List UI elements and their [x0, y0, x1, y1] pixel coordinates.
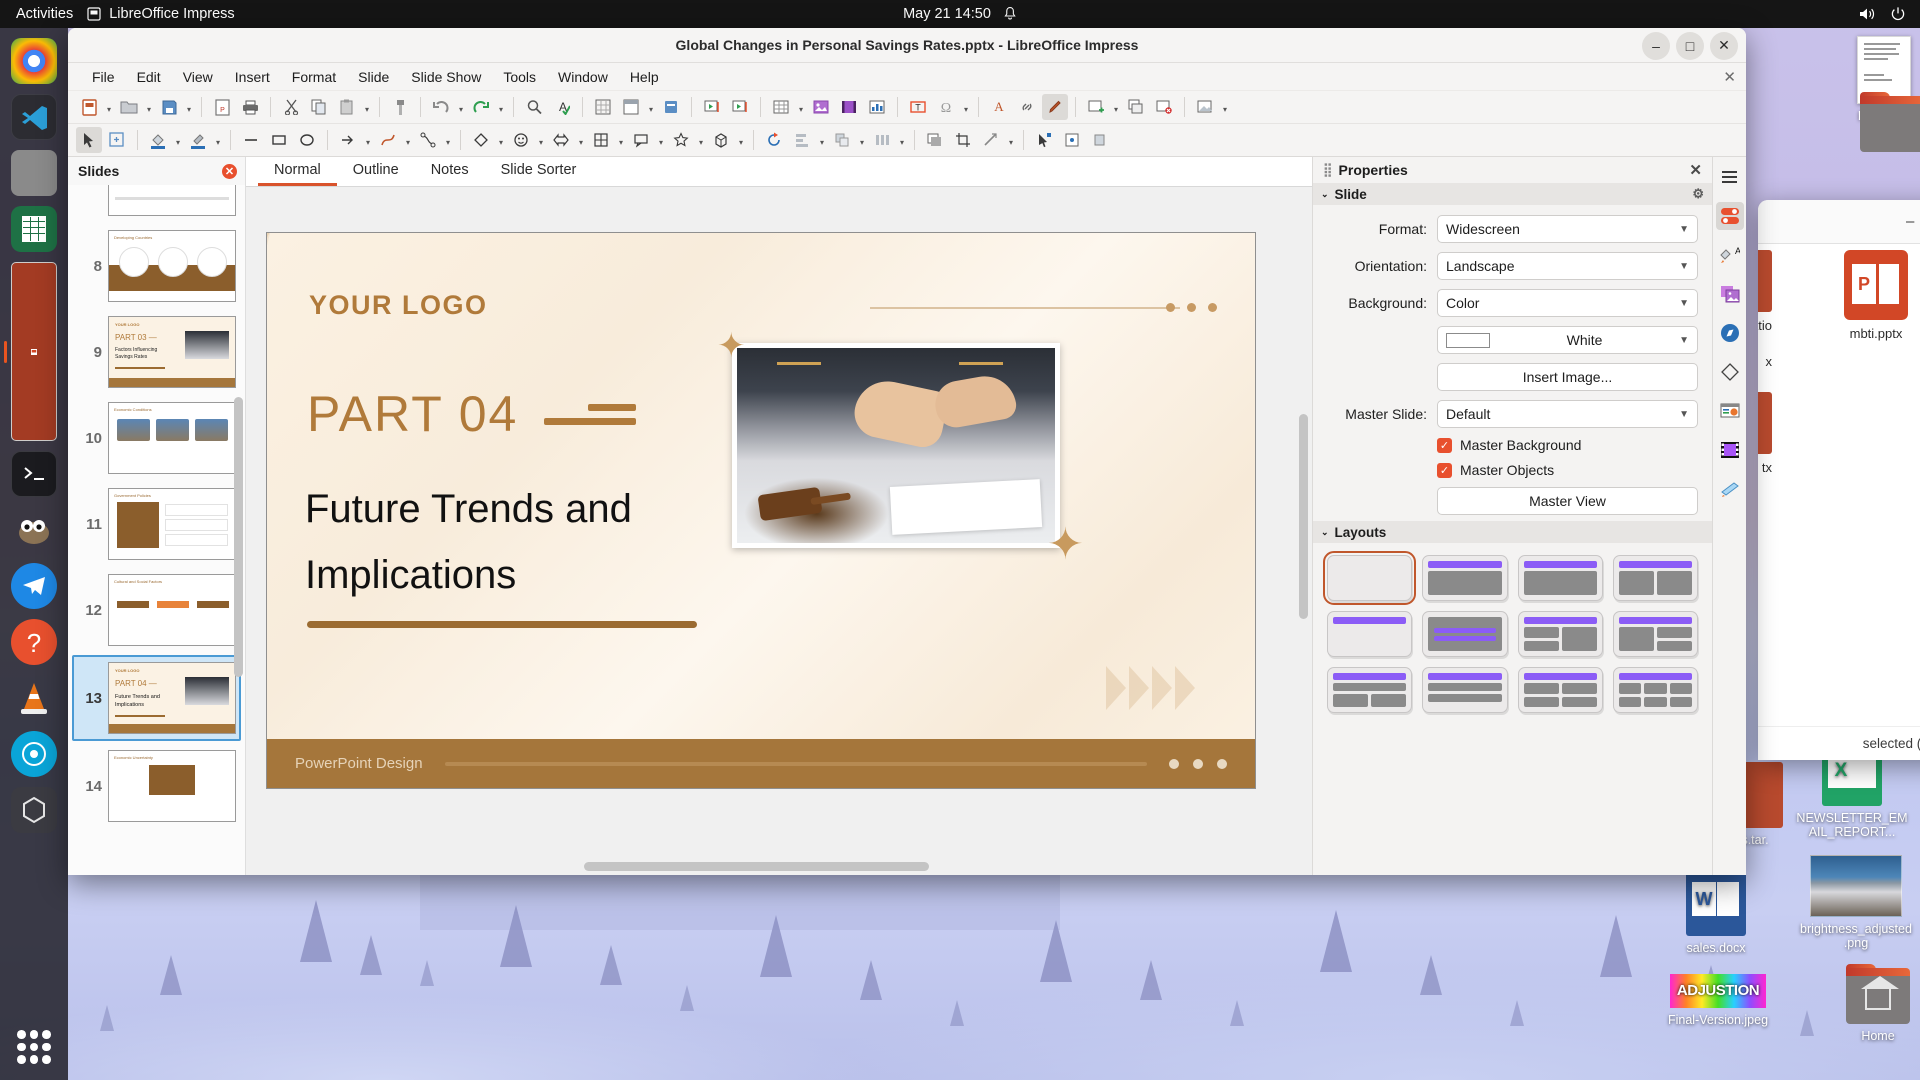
- file-item-partial-1[interactable]: atio: [1758, 250, 1772, 333]
- slide-thumbnail-item[interactable]: 14 Economic Uncertainty: [72, 743, 245, 829]
- insert-image-button[interactable]: Insert Image...: [1437, 363, 1698, 391]
- slide-thumbnail: Cultural and Social Factors: [108, 574, 236, 646]
- dock-item-telegram[interactable]: [11, 563, 57, 609]
- menu-format[interactable]: Format: [281, 66, 347, 88]
- fill-color-dropdown-icon[interactable]: ▾: [173, 127, 183, 153]
- tree: [1230, 1000, 1244, 1026]
- tree: [1420, 955, 1442, 995]
- properties-icon[interactable]: [1716, 202, 1744, 230]
- sidebar-rail[interactable]: A: [1712, 157, 1746, 875]
- gnome-top-bar: Activities LibreOffice Impress May 21 14…: [0, 0, 1920, 28]
- basic-shapes-dropdown-icon[interactable]: ▾: [496, 127, 506, 153]
- menu-window[interactable]: Window: [547, 66, 619, 88]
- layouts-section-header[interactable]: ⌄ Layouts: [1313, 521, 1712, 543]
- insert-arrow-icon[interactable]: [335, 127, 361, 153]
- volume-icon[interactable]: [1858, 6, 1876, 22]
- tree: [1140, 960, 1162, 1000]
- special-character-dropdown-icon[interactable]: ▾: [961, 94, 971, 120]
- chevron-down-icon: ▼: [1679, 298, 1689, 309]
- align-objects-icon[interactable]: [789, 127, 815, 153]
- dock-item-calc[interactable]: [11, 206, 57, 252]
- pptx-file-icon: [1758, 392, 1772, 454]
- desktop-icon-sales-docx[interactable]: W sales.docx: [1660, 870, 1772, 955]
- paste-icon[interactable]: [334, 94, 360, 120]
- master-objects-row[interactable]: ✓ Master Objects: [1319, 462, 1698, 478]
- slides-panel[interactable]: Slides ✕ 8 Developing Countries: [68, 157, 246, 875]
- tree: [1040, 920, 1072, 982]
- show-draw-functions-icon[interactable]: [1042, 94, 1068, 120]
- connectors-icon[interactable]: [415, 127, 441, 153]
- slide-number: 8: [76, 258, 102, 275]
- insert-media-icon[interactable]: [836, 94, 862, 120]
- line-color-dropdown-icon[interactable]: ▾: [213, 127, 223, 153]
- tree: [1600, 915, 1632, 977]
- layout-title-three-rows[interactable]: [1422, 667, 1507, 713]
- master-slides-icon[interactable]: [1716, 397, 1744, 425]
- scrollbar-thumb[interactable]: [1299, 414, 1308, 619]
- insert-table-icon[interactable]: [768, 94, 794, 120]
- fill-color-icon[interactable]: [145, 127, 171, 153]
- sidebar-settings-icon[interactable]: [1716, 163, 1744, 191]
- slide-section-title: Slide: [1335, 187, 1367, 202]
- layout-title-only[interactable]: [1327, 611, 1412, 657]
- selection-status-text: selected (12.3 MB): [1863, 736, 1920, 751]
- shapes-icon[interactable]: [1716, 358, 1744, 386]
- part-dash-decoration: [544, 404, 636, 425]
- insert-text-box-icon[interactable]: T: [905, 94, 931, 120]
- select-tool-icon[interactable]: [76, 127, 102, 153]
- bell-icon[interactable]: [1003, 6, 1017, 22]
- delete-slide-icon[interactable]: [1151, 94, 1177, 120]
- software-icon: [21, 796, 47, 824]
- system-tray[interactable]: [1858, 6, 1906, 22]
- chevron-down-icon: ▼: [1679, 224, 1689, 235]
- pptx-file-icon: [1758, 250, 1772, 312]
- master-slide-icon[interactable]: [658, 94, 684, 120]
- start-from-current-slide-icon[interactable]: [727, 94, 753, 120]
- traffic-cone-icon: [17, 680, 51, 716]
- slide-footer-text: PowerPoint Design: [295, 755, 423, 772]
- animation-icon[interactable]: [1716, 436, 1744, 464]
- file-item-partial-2[interactable]: x: [1758, 354, 1772, 369]
- slide-number: 12: [76, 602, 102, 619]
- editor-area: Normal Outline Notes Slide Sorter YOUR L…: [246, 157, 1312, 875]
- slide-thumbnail: YOUR LOGO PART 04 — Future Trends andImp…: [108, 662, 236, 734]
- menu-help[interactable]: Help: [619, 66, 670, 88]
- dock-item-software[interactable]: [11, 787, 57, 833]
- new-presentation-icon[interactable]: [76, 94, 102, 120]
- scrollbar-thumb[interactable]: [584, 862, 929, 871]
- stars-and-banners-icon[interactable]: [668, 127, 694, 153]
- format-row: Format: Widescreen ▼: [1319, 215, 1698, 243]
- slide-thumbnail: Economic Conditions: [108, 402, 236, 474]
- insert-image-row: Insert Image...: [1319, 363, 1698, 391]
- tree: [1800, 1010, 1814, 1036]
- master-background-row[interactable]: ✓ Master Background: [1319, 437, 1698, 453]
- open-dropdown-icon[interactable]: ▾: [144, 94, 154, 120]
- tree: [950, 1000, 964, 1026]
- menu-file[interactable]: File: [81, 66, 126, 88]
- cut-icon[interactable]: [278, 94, 304, 120]
- thumb-title: Developing Countries: [114, 235, 152, 240]
- display-grid-icon[interactable]: [590, 94, 616, 120]
- canvas-horizontal-scrollbar[interactable]: [254, 862, 1290, 871]
- scrollbar-thumb[interactable]: [234, 397, 243, 677]
- flowchart-shapes-icon[interactable]: [588, 127, 614, 153]
- impress-icon: [31, 340, 37, 364]
- align-dropdown-icon[interactable]: ▾: [817, 127, 827, 153]
- slide-transition-icon[interactable]: [1716, 475, 1744, 503]
- glue-points-icon[interactable]: [1059, 127, 1085, 153]
- find-replace-icon[interactable]: [521, 94, 547, 120]
- slide-photo[interactable]: [732, 343, 1060, 548]
- slide-thumbnail: YOUR LOGO PART 03 — Factors InfluencingS…: [108, 316, 236, 388]
- active-app-name: LibreOffice Impress: [109, 6, 234, 22]
- format-label: Format:: [1319, 221, 1427, 237]
- activities-button[interactable]: Activities: [0, 6, 87, 22]
- desktop-icon-brightness-png[interactable]: brightness_adjusted.png: [1800, 855, 1912, 950]
- redo-dropdown-icon[interactable]: ▾: [496, 94, 506, 120]
- tab-notes[interactable]: Notes: [415, 157, 485, 186]
- decorative-line-top-right: [870, 307, 1180, 309]
- menu-slide-show[interactable]: Slide Show: [400, 66, 492, 88]
- close-document-button[interactable]: ✕: [1723, 68, 1736, 86]
- slides-panel-title: Slides: [78, 163, 119, 179]
- thumb-title: Economic Uncertainty: [114, 755, 153, 760]
- desktop-icon-label: Home: [1822, 1029, 1920, 1043]
- properties-panel[interactable]: ⣿ Properties ✕ ⌄ Slide ⚙ Format: Widescr…: [1312, 157, 1712, 875]
- new-slide-dropdown-icon[interactable]: ▾: [1111, 94, 1121, 120]
- insert-special-character-icon[interactable]: Ω: [933, 94, 959, 120]
- layout-title-content[interactable]: [1422, 555, 1507, 601]
- gear-icon[interactable]: ⚙: [1692, 186, 1704, 202]
- impress-app-icon: [87, 7, 101, 21]
- slide-part-label[interactable]: PART 04: [307, 385, 636, 443]
- layouts-grid[interactable]: [1313, 543, 1712, 725]
- connectors-dropdown-icon[interactable]: ▾: [443, 127, 453, 153]
- shadow-icon[interactable]: [922, 127, 948, 153]
- window-titlebar: Global Changes in Personal Savings Rates…: [68, 28, 1746, 63]
- slide-thumbnail-item[interactable]: 12 Cultural and Social Factors: [72, 567, 245, 653]
- callout-shapes-icon[interactable]: [628, 127, 654, 153]
- impress-window[interactable]: Global Changes in Personal Savings Rates…: [68, 28, 1746, 875]
- layout-title-two-content-stacked[interactable]: [1518, 611, 1603, 657]
- slide-properties-dropdown-icon[interactable]: ▾: [1220, 94, 1230, 120]
- distribute-dropdown-icon[interactable]: ▾: [897, 127, 907, 153]
- svg-text:Ω: Ω: [941, 101, 951, 115]
- folder-icon: [1846, 972, 1910, 1024]
- basic-shapes-icon[interactable]: [468, 127, 494, 153]
- orientation-label: Orientation:: [1319, 258, 1427, 274]
- slide-thumbnail-item-selected[interactable]: 13 YOUR LOGO PART 04 — Future Trends and…: [72, 655, 241, 741]
- insert-rectangle-icon[interactable]: [266, 127, 292, 153]
- clock-text: May 21 14:50: [903, 6, 991, 22]
- filter-icon[interactable]: [978, 127, 1004, 153]
- symbol-shapes-icon[interactable]: [508, 127, 534, 153]
- orientation-select[interactable]: Landscape ▼: [1437, 252, 1698, 280]
- master-objects-label: Master Objects: [1460, 462, 1554, 478]
- dock-item-files[interactable]: [11, 150, 57, 196]
- slide-thumbnail: Government Policies: [108, 488, 236, 560]
- tree: [760, 915, 792, 977]
- slide-section-header[interactable]: ⌄ Slide ⚙: [1313, 183, 1712, 205]
- dock-item-vscode[interactable]: [11, 94, 57, 140]
- standard-toolbar[interactable]: ▾ ▾ ▾ P ▾ ▾ ▾: [68, 91, 1746, 124]
- maximize-button[interactable]: □: [1676, 32, 1704, 60]
- slide-thumbnail: Economic Uncertainty: [108, 750, 236, 822]
- master-slide-select[interactable]: Default ▼: [1437, 400, 1698, 428]
- part-text: PART 04: [307, 385, 518, 443]
- vscode-icon: [20, 103, 50, 133]
- insert-table-dropdown-icon[interactable]: ▾: [796, 94, 806, 120]
- block-arrows-dropdown-icon[interactable]: ▾: [576, 127, 586, 153]
- tab-outline[interactable]: Outline: [337, 157, 415, 186]
- redo-icon[interactable]: [468, 94, 494, 120]
- arrange-icon[interactable]: [829, 127, 855, 153]
- menu-tools[interactable]: Tools: [492, 66, 547, 88]
- save-icon[interactable]: [156, 94, 182, 120]
- layout-title-content-over-two[interactable]: [1327, 667, 1412, 713]
- desktop-icon-home-folder[interactable]: Home: [1822, 972, 1920, 1043]
- desktop-icon-label: Final-Version.jpeg: [1648, 1013, 1788, 1027]
- background-select[interactable]: Color ▼: [1437, 289, 1698, 317]
- chevron-down-icon: ▼: [1679, 261, 1689, 272]
- undo-icon[interactable]: [428, 94, 454, 120]
- pptx-file-icon: P: [1844, 250, 1908, 320]
- curves-and-polygons-icon[interactable]: [375, 127, 401, 153]
- clock-area[interactable]: May 21 14:50: [903, 6, 1017, 22]
- file-manager-minimize-button[interactable]: –: [1906, 213, 1914, 230]
- svg-text:A: A: [994, 99, 1004, 114]
- svg-text:A: A: [1735, 246, 1740, 256]
- slide-properties-icon[interactable]: [1192, 94, 1218, 120]
- dock-item-terminal[interactable]: [11, 451, 57, 497]
- color-value: White: [1490, 332, 1679, 348]
- slide-canvas-area[interactable]: YOUR LOGO PART 04 Future Trends and Impl…: [246, 187, 1312, 875]
- slide-properties-rows: Format: Widescreen ▼ Orientation: Landsc…: [1313, 205, 1712, 521]
- slide-thumbnail-item[interactable]: 8 Developing Countries: [72, 223, 245, 309]
- styles-icon[interactable]: A: [1716, 241, 1744, 269]
- dock-item-sound[interactable]: [11, 731, 57, 777]
- desktop-icon-label: brightness_adjusted.png: [1800, 922, 1912, 950]
- insert-hyperlink-icon[interactable]: [1014, 94, 1040, 120]
- slide-thumbnail-item[interactable]: [72, 185, 245, 223]
- copy-icon[interactable]: [306, 94, 332, 120]
- desktop-icon-final-version-jpeg[interactable]: ADJUSTION Final-Version.jpeg: [1648, 974, 1788, 1027]
- layout-centered-text[interactable]: [1422, 611, 1507, 657]
- rotate-icon[interactable]: [761, 127, 787, 153]
- insert-ellipse-icon[interactable]: [294, 127, 320, 153]
- jpeg-thumbnail-text: ADJUSTION: [1670, 974, 1766, 1008]
- master-background-checkbox[interactable]: ✓: [1437, 438, 1452, 453]
- desktop-icon-label: NEWSLETTER_EMAIL_REPORT...: [1796, 811, 1908, 839]
- layout-title-content-two-content[interactable]: [1613, 611, 1698, 657]
- tree: [360, 935, 382, 975]
- tree: [420, 960, 434, 986]
- orientation-value: Landscape: [1446, 258, 1515, 274]
- slide-heading[interactable]: Future Trends and Implications: [305, 476, 725, 608]
- background-row: Background: Color ▼: [1319, 289, 1698, 317]
- slide-number: 9: [76, 344, 102, 361]
- zoom-tool-icon[interactable]: [104, 127, 130, 153]
- chevron-down-icon[interactable]: ⌄: [1321, 189, 1329, 200]
- crop-image-icon[interactable]: [950, 127, 976, 153]
- display-views-icon[interactable]: [618, 94, 644, 120]
- dock-item-help[interactable]: ?: [11, 619, 57, 665]
- desktop-icon-folder-generic[interactable]: [1836, 100, 1920, 157]
- block-arrows-icon[interactable]: [548, 127, 574, 153]
- tree: [860, 960, 882, 1000]
- start-from-first-slide-icon[interactable]: [699, 94, 725, 120]
- window-title: Global Changes in Personal Savings Rates…: [676, 37, 1139, 53]
- menu-slide[interactable]: Slide: [347, 66, 400, 88]
- master-slide-row: Master Slide: Default ▼: [1319, 400, 1698, 428]
- dock-item-gimp[interactable]: [11, 507, 57, 553]
- footer-dots: [1169, 759, 1227, 769]
- open-file-icon[interactable]: [116, 94, 142, 120]
- undo-dropdown-icon[interactable]: ▾: [456, 94, 466, 120]
- properties-header: ⣿ Properties ✕: [1313, 157, 1712, 183]
- print-icon[interactable]: [237, 94, 263, 120]
- slide-thumbnail-item[interactable]: 11 Government Policies: [72, 481, 245, 567]
- menu-bar[interactable]: File Edit View Insert Format Slide Slide…: [68, 63, 1746, 91]
- slide-thumbnail: Developing Countries: [108, 230, 236, 302]
- close-button[interactable]: ✕: [1710, 32, 1738, 60]
- sparkle-icon: ✦: [1047, 523, 1084, 567]
- slides-panel-close-button[interactable]: ✕: [222, 164, 237, 179]
- panel-grip-icon[interactable]: ⣿: [1323, 162, 1331, 178]
- svg-text:P: P: [220, 107, 225, 114]
- master-view-button[interactable]: Master View: [1437, 487, 1698, 515]
- arrow-dropdown-icon[interactable]: ▾: [363, 127, 373, 153]
- arrange-dropdown-icon[interactable]: ▾: [857, 127, 867, 153]
- tree: [1510, 1000, 1524, 1026]
- fontwork-icon[interactable]: A: [986, 94, 1012, 120]
- layout-title-content-full[interactable]: [1518, 555, 1603, 601]
- filter-dropdown-icon[interactable]: ▾: [1006, 127, 1016, 153]
- tree: [1320, 910, 1352, 972]
- duplicate-slide-icon[interactable]: [1123, 94, 1149, 120]
- file-manager-status-bar: selected (12.3 MB): [1758, 726, 1920, 760]
- export-pdf-icon[interactable]: P: [209, 94, 235, 120]
- new-slide-icon[interactable]: [1083, 94, 1109, 120]
- heading-line-2: Implications: [305, 542, 725, 608]
- 3d-objects-icon[interactable]: [708, 127, 734, 153]
- callout-dropdown-icon[interactable]: ▾: [656, 127, 666, 153]
- navigator-icon[interactable]: [1716, 319, 1744, 347]
- line-color-icon[interactable]: [185, 127, 211, 153]
- slides-panel-scrollbar[interactable]: [234, 187, 243, 869]
- show-applications-button[interactable]: [17, 1030, 51, 1064]
- insert-chart-icon[interactable]: [864, 94, 890, 120]
- file-manager-window[interactable]: – □ ✕ P mbti.pptx atio x tx selected (12…: [1758, 200, 1920, 760]
- calc-icon: [22, 216, 46, 242]
- slide-thumbnail-list[interactable]: 8 Developing Countries 9 YOUR LOGO PART …: [68, 185, 245, 875]
- thumb-title: Economic Conditions: [114, 407, 152, 412]
- file-manager-titlebar: – □ ✕: [1758, 200, 1920, 244]
- slide-logo-text[interactable]: YOUR LOGO: [309, 290, 488, 321]
- file-item-partial-3[interactable]: tx: [1758, 392, 1772, 475]
- format-select[interactable]: Widescreen ▼: [1437, 215, 1698, 243]
- window-controls[interactable]: – □ ✕: [1642, 28, 1738, 63]
- heading-underline: [307, 621, 697, 628]
- master-slide-label: Master Slide:: [1319, 406, 1427, 422]
- layout-blank[interactable]: [1327, 555, 1412, 601]
- file-item-mbti-pptx[interactable]: P mbti.pptx: [1816, 250, 1920, 341]
- application-dock[interactable]: ?: [0, 28, 68, 1080]
- color-swatch: [1446, 333, 1490, 348]
- master-slide-value: Default: [1446, 406, 1490, 422]
- tab-slide-sorter[interactable]: Slide Sorter: [485, 157, 593, 186]
- toggle-extrusion-icon[interactable]: [1087, 127, 1113, 153]
- background-color-row: White ▼: [1319, 326, 1698, 354]
- file-manager-file-grid: P mbti.pptx atio x tx: [1758, 244, 1920, 714]
- slide-thumbnail: [108, 185, 236, 216]
- flowchart-dropdown-icon[interactable]: ▾: [616, 127, 626, 153]
- question-mark-icon: ?: [11, 619, 57, 665]
- dock-item-chrome[interactable]: [11, 38, 57, 84]
- menu-insert[interactable]: Insert: [224, 66, 281, 88]
- format-value: Widescreen: [1446, 221, 1520, 237]
- jpeg-file-icon: ADJUSTION: [1670, 974, 1766, 1008]
- file-item-label: tx: [1762, 460, 1772, 475]
- gallery-icon[interactable]: [1716, 280, 1744, 308]
- power-icon[interactable]: [1890, 6, 1906, 22]
- properties-close-button[interactable]: ✕: [1689, 161, 1702, 179]
- stars-dropdown-icon[interactable]: ▾: [696, 127, 706, 153]
- dock-item-vlc[interactable]: [11, 675, 57, 721]
- view-tab-bar[interactable]: Normal Outline Notes Slide Sorter: [246, 157, 1312, 187]
- png-file-icon: [1810, 855, 1902, 917]
- points-icon[interactable]: [1031, 127, 1057, 153]
- slide-thumbnail-item[interactable]: 9 YOUR LOGO PART 03 — Factors Influencin…: [72, 309, 245, 395]
- menu-edit[interactable]: Edit: [126, 66, 172, 88]
- paste-dropdown-icon[interactable]: ▾: [362, 94, 372, 120]
- distribute-icon[interactable]: [869, 127, 895, 153]
- tree: [100, 1005, 114, 1031]
- minimize-button[interactable]: –: [1642, 32, 1670, 60]
- clone-formatting-icon[interactable]: [387, 94, 413, 120]
- drawing-toolbar[interactable]: ▾ ▾ ▾ ▾ ▾ ▾ ▾ ▾ ▾: [68, 124, 1746, 157]
- slide-canvas[interactable]: YOUR LOGO PART 04 Future Trends and Impl…: [266, 232, 1256, 789]
- master-background-label: Master Background: [1460, 437, 1581, 453]
- spelling-icon[interactable]: A: [549, 94, 575, 120]
- curves-dropdown-icon[interactable]: ▾: [403, 127, 413, 153]
- layout-title-two-content[interactable]: [1613, 555, 1698, 601]
- slide-thumbnail-item[interactable]: 10 Economic Conditions: [72, 395, 245, 481]
- insert-image-icon[interactable]: [808, 94, 834, 120]
- layout-title-six-content[interactable]: [1613, 667, 1698, 713]
- master-view-row: Master View: [1319, 487, 1698, 515]
- active-app-indicator[interactable]: LibreOffice Impress: [87, 6, 234, 22]
- symbol-shapes-dropdown-icon[interactable]: ▾: [536, 127, 546, 153]
- background-color-select[interactable]: White ▼: [1437, 326, 1698, 354]
- new-dropdown-icon[interactable]: ▾: [104, 94, 114, 120]
- menu-view[interactable]: View: [172, 66, 224, 88]
- insert-line-icon[interactable]: [238, 127, 264, 153]
- save-dropdown-icon[interactable]: ▾: [184, 94, 194, 120]
- tab-normal[interactable]: Normal: [258, 157, 337, 186]
- folder-icon: [1860, 100, 1920, 152]
- 3d-objects-dropdown-icon[interactable]: ▾: [736, 127, 746, 153]
- master-objects-checkbox[interactable]: ✓: [1437, 463, 1452, 478]
- slide-number: 10: [76, 430, 102, 447]
- display-views-dropdown-icon[interactable]: ▾: [646, 94, 656, 120]
- chevron-down-icon[interactable]: ⌄: [1321, 527, 1329, 538]
- layout-title-four-content[interactable]: [1518, 667, 1603, 713]
- dock-item-impress[interactable]: [11, 262, 57, 441]
- canvas-vertical-scrollbar[interactable]: [1299, 239, 1308, 823]
